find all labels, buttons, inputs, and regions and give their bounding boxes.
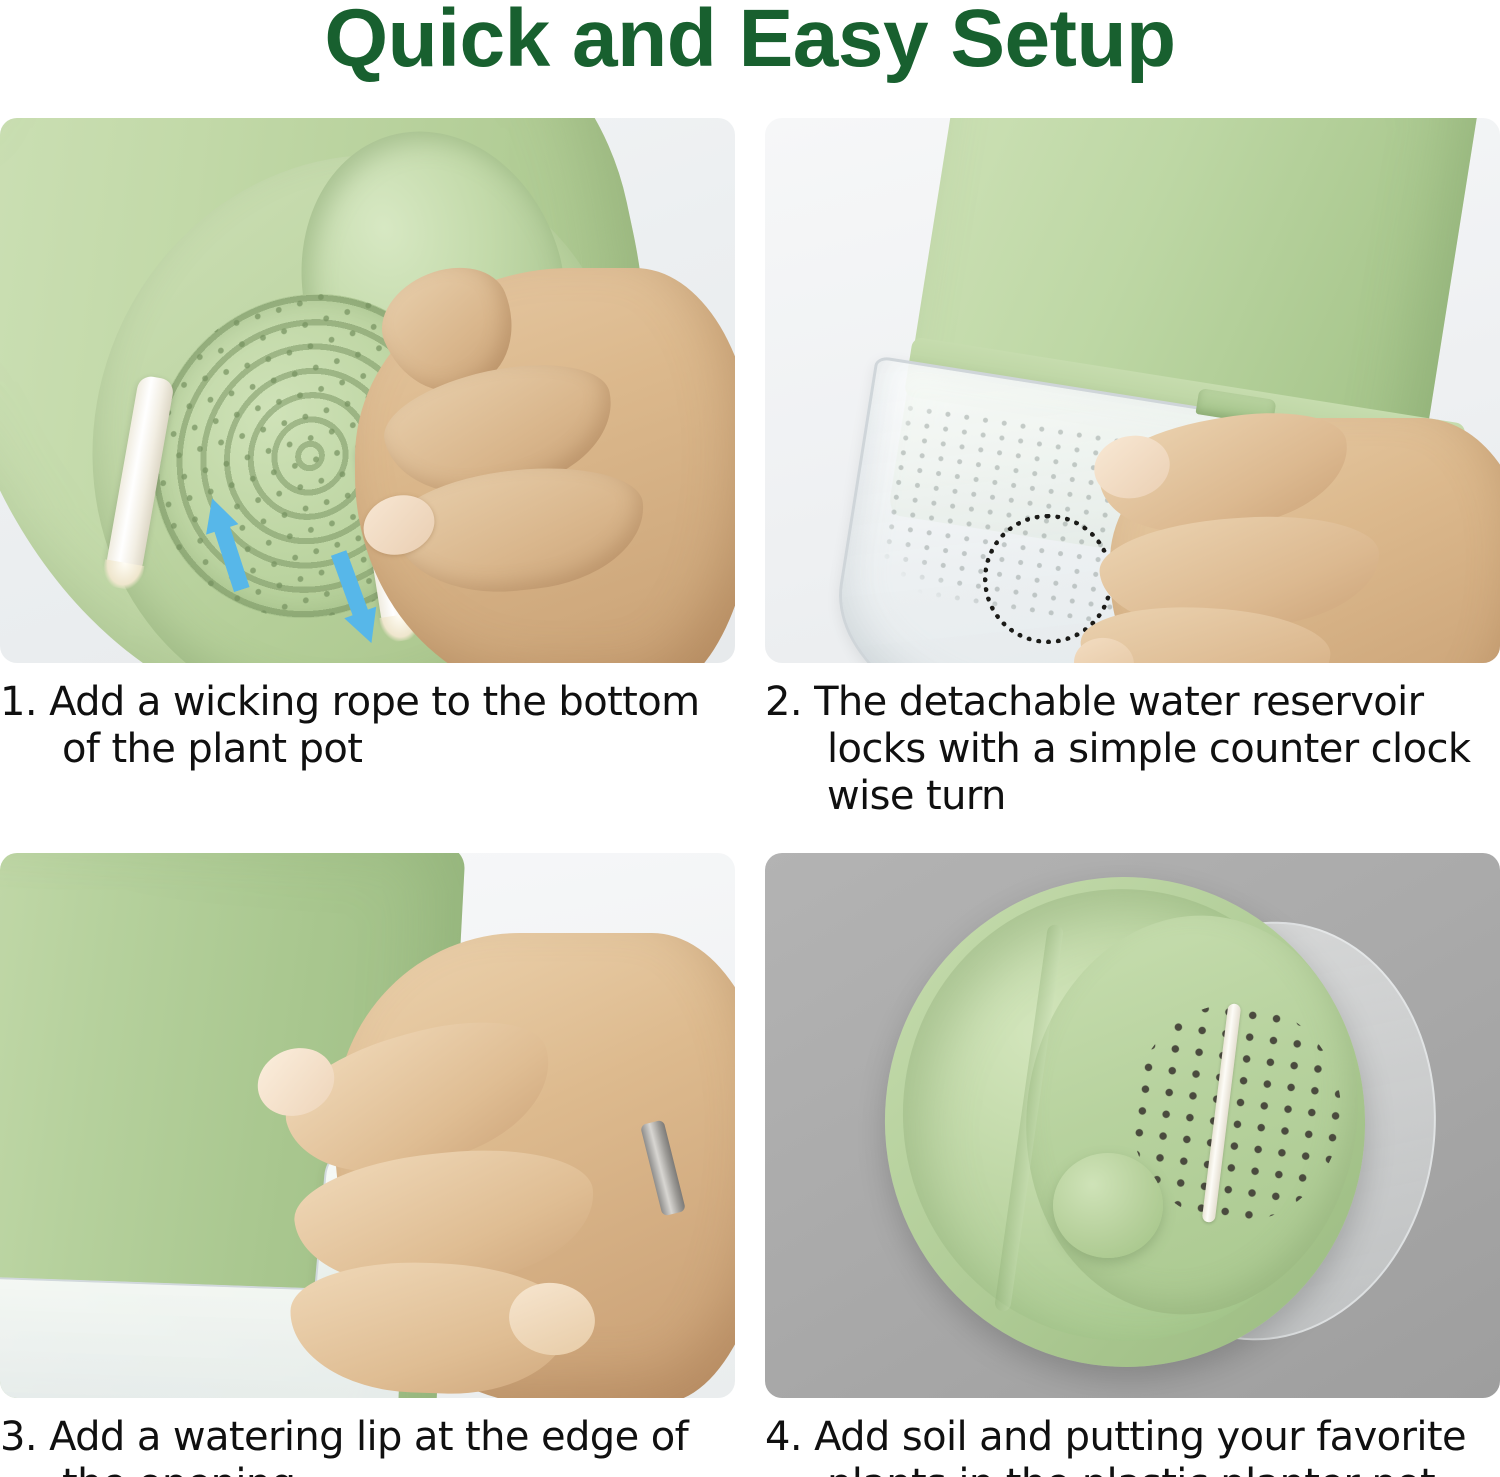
step-card-2: 2. The detachable water reservoir locks … <box>765 118 1500 821</box>
step-3-photo <box>0 853 735 1398</box>
steps-grid: 1. Add a wicking rope to the bottom of t… <box>0 118 1500 1477</box>
step-card-3: 3. Add a watering lip at the edge of the… <box>0 853 735 1477</box>
steps-row-bottom: 3. Add a watering lip at the edge of the… <box>0 853 1500 1477</box>
pot-dome-shape <box>1053 1153 1163 1258</box>
step-card-1: 1. Add a wicking rope to the bottom of t… <box>0 118 735 821</box>
step-3-caption: 3. Add a watering lip at the edge of the… <box>0 1414 720 1477</box>
step-card-4: 4. Add soil and putting your favorite pl… <box>765 853 1500 1477</box>
steps-row-top: 1. Add a wicking rope to the bottom of t… <box>0 118 1500 821</box>
page-title: Quick and Easy Setup <box>0 0 1500 82</box>
step-4-caption: 4. Add soil and putting your favorite pl… <box>765 1414 1485 1477</box>
step-2-photo <box>765 118 1500 663</box>
step-2-caption: 2. The detachable water reservoir locks … <box>765 679 1485 821</box>
step-1-photo <box>0 118 735 663</box>
step-4-photo <box>765 853 1500 1398</box>
infographic-page: Quick and Easy Setup <box>0 0 1500 1477</box>
step-1-caption: 1. Add a wicking rope to the bottom of t… <box>0 679 720 773</box>
